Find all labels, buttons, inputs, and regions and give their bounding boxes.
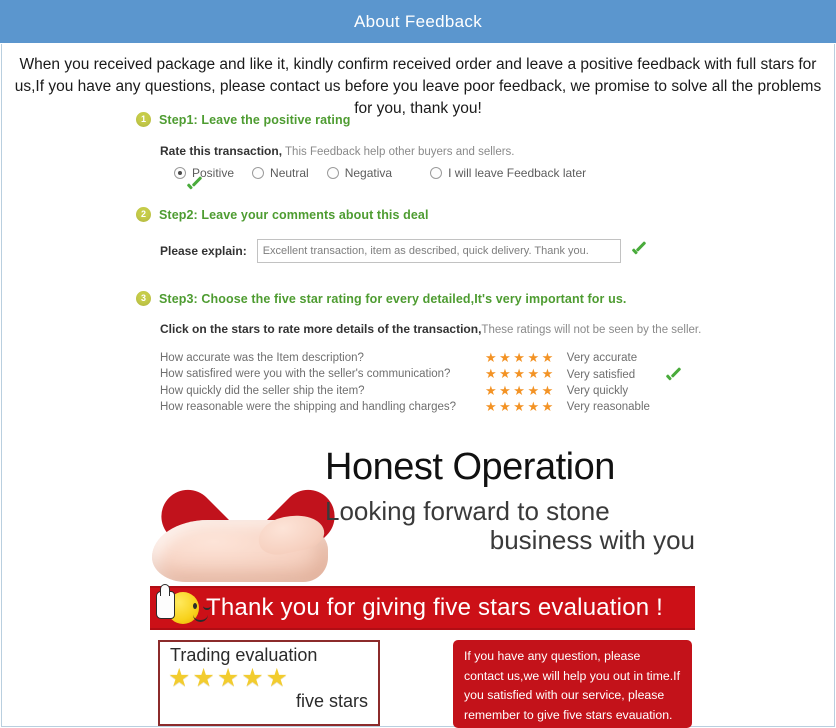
hand-holding-heart-icon (150, 442, 330, 582)
please-explain-input[interactable] (257, 239, 621, 263)
promo-text-block: Honest Operation Looking forward to ston… (325, 448, 695, 556)
step-2-header: 2 Step2: Leave your comments about this … (136, 207, 736, 222)
radio-dot-icon[interactable] (430, 167, 442, 179)
please-explain-row: Please explain: (160, 239, 736, 263)
step-1-body: Rate this transaction, This Feedback hel… (136, 144, 736, 180)
click-stars-hint: These ratings will not be seen by the se… (481, 324, 701, 336)
rating-row: ★★★★★ Very accurate (485, 350, 650, 366)
rating-value-text: Very accurate (567, 352, 637, 364)
steps-container: 1 Step1: Leave the positive rating Rate … (136, 112, 736, 416)
intro-paragraph: When you received package and like it, k… (14, 54, 822, 120)
trading-evaluation-box: Trading evaluation ★★★★★ five stars (158, 640, 380, 726)
star-rating-icon[interactable]: ★★★★★ (485, 399, 556, 415)
rating-value-text: Very satisfied (567, 369, 635, 381)
green-check-icon (631, 243, 648, 260)
rating-value-text: Very quickly (567, 385, 628, 397)
about-feedback-page: About Feedback When you received package… (0, 0, 836, 728)
smiley-thumbsup-icon (154, 589, 200, 627)
detailed-ratings-table: How accurate was the Item description? H… (160, 350, 736, 416)
contact-us-note: If you have any question, please contact… (453, 640, 692, 728)
radio-option-neutral[interactable]: Neutral (252, 166, 309, 180)
step-2-badge: 2 (136, 207, 151, 222)
promo-banner: Honest Operation Looking forward to ston… (150, 442, 695, 582)
step-2-body: Please explain: (136, 239, 736, 263)
step-1-badge: 1 (136, 112, 151, 127)
step-1: 1 Step1: Leave the positive rating Rate … (136, 112, 736, 180)
rating-row: ★★★★★ Very quickly (485, 383, 650, 399)
thumbs-up-icon (156, 591, 175, 619)
step-3: 3 Step3: Choose the five star rating for… (136, 291, 736, 416)
radio-label-negativa: Negativa (345, 166, 392, 180)
trading-evaluation-caption: five stars (160, 692, 368, 712)
rating-question-column: How accurate was the Item description? H… (160, 350, 485, 416)
rate-transaction-line: Rate this transaction, This Feedback hel… (160, 144, 736, 158)
star-rating-icon[interactable]: ★★★★★ (485, 383, 556, 399)
promo-subline-1: Looking forward to stone (325, 497, 695, 527)
page-title: About Feedback (354, 12, 482, 32)
green-check-icon (665, 369, 682, 386)
radio-label-feedback-later: I will leave Feedback later (448, 166, 586, 180)
rating-question: How accurate was the Item description? (160, 350, 485, 366)
smiley-eye (193, 603, 197, 609)
step-2-title: Step2: Leave your comments about this de… (159, 208, 429, 222)
promo-headline-block: Honest Operation Looking forward to ston… (150, 442, 695, 582)
click-stars-label: Click on the stars to rate more details … (160, 322, 481, 336)
radio-option-positive[interactable]: Positive (174, 166, 234, 180)
promo-subline-2: business with you (325, 526, 695, 556)
thank-you-banner: Thank you for giving five stars evaluati… (150, 586, 695, 630)
rating-question: How quickly did the seller ship the item… (160, 383, 485, 399)
step-1-title: Step1: Leave the positive rating (159, 113, 350, 127)
step-3-body: Click on the stars to rate more details … (136, 322, 736, 416)
rating-stars-column: ★★★★★ Very accurate ★★★★★ Very satisfied… (485, 350, 650, 416)
step-3-badge: 3 (136, 291, 151, 306)
trading-evaluation-stars-icon: ★★★★★ (168, 666, 378, 691)
promo-bottom-row: Trading evaluation ★★★★★ five stars If y… (150, 640, 695, 728)
header-bar: About Feedback (0, 0, 836, 43)
step-2: 2 Step2: Leave your comments about this … (136, 207, 736, 263)
radio-dot-icon[interactable] (327, 167, 339, 179)
click-stars-line: Click on the stars to rate more details … (160, 322, 736, 336)
radio-label-neutral: Neutral (270, 166, 309, 180)
radio-dot-icon[interactable] (252, 167, 264, 179)
step-3-title: Step3: Choose the five star rating for e… (159, 292, 626, 306)
radio-dot-icon[interactable] (174, 167, 186, 179)
contact-us-note-text: If you have any question, please contact… (464, 647, 683, 725)
rating-question: How satisfired were you with the seller'… (160, 366, 485, 382)
step-3-header: 3 Step3: Choose the five star rating for… (136, 291, 736, 306)
please-explain-label: Please explain: (160, 244, 247, 258)
radio-option-feedback-later[interactable]: I will leave Feedback later (430, 166, 586, 180)
rating-question: How reasonable were the shipping and han… (160, 399, 485, 415)
thank-you-text: Thank you for giving five stars evaluati… (206, 594, 663, 622)
rate-transaction-hint: This Feedback help other buyers and sell… (282, 146, 514, 158)
radio-option-negativa[interactable]: Negativa (327, 166, 392, 180)
content-frame: When you received package and like it, k… (1, 44, 835, 727)
step-1-header: 1 Step1: Leave the positive rating (136, 112, 736, 127)
rating-row: ★★★★★ Very satisfied (485, 366, 650, 382)
trading-evaluation-title: Trading evaluation (170, 646, 378, 666)
green-check-icon (186, 178, 203, 195)
rating-row: ★★★★★ Very reasonable (485, 399, 650, 415)
star-rating-icon[interactable]: ★★★★★ (485, 366, 556, 382)
rating-value-text: Very reasonable (567, 401, 650, 413)
promo-headline: Honest Operation (325, 448, 695, 487)
rating-radio-row: Positive Neutral Negativa I will le (160, 166, 736, 180)
rate-transaction-label: Rate this transaction, (160, 144, 282, 158)
star-rating-icon[interactable]: ★★★★★ (485, 350, 556, 366)
